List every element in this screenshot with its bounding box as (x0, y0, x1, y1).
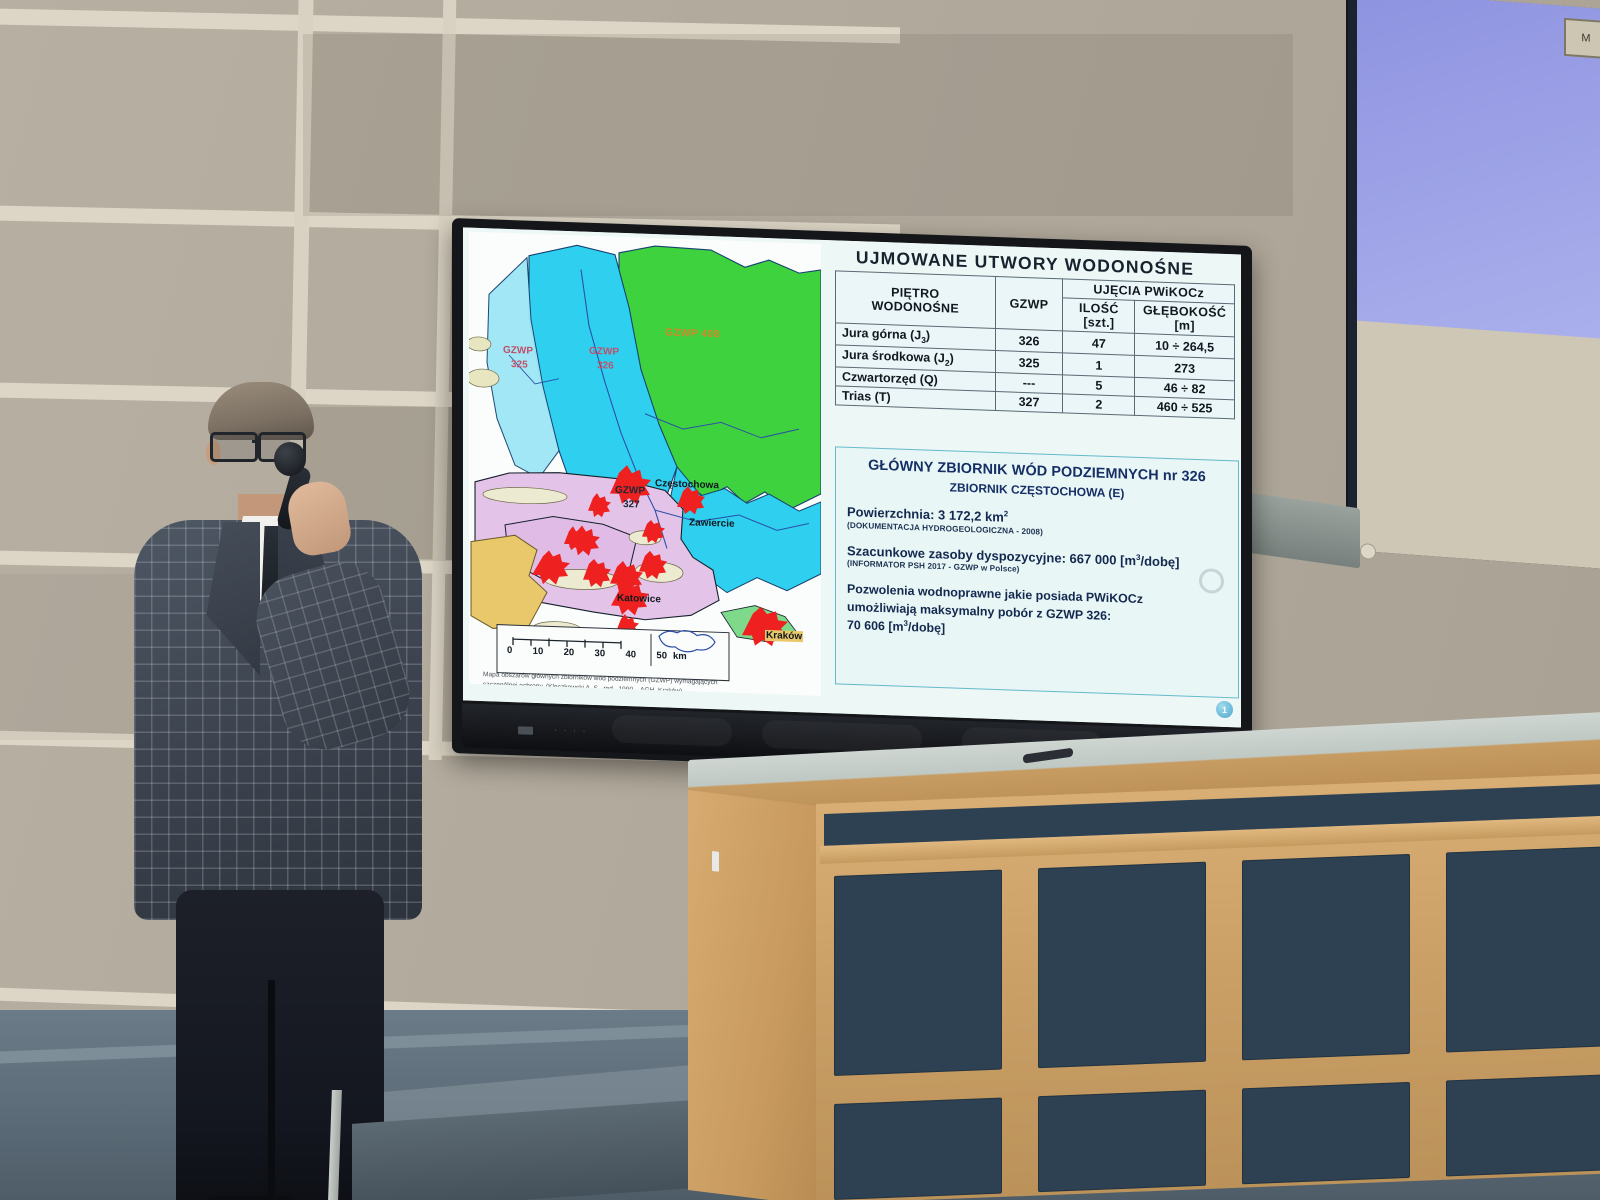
stage-tail: ) (950, 351, 954, 365)
map-label-gzwp-327: GZWP (615, 485, 645, 497)
slide-number-badge[interactable]: 1 (1216, 701, 1233, 719)
map-label-gzwp-325-number: 325 (511, 359, 528, 371)
ring-cursor[interactable] (1199, 568, 1224, 594)
cell-ilosc: 5 (1063, 375, 1135, 397)
glasses-left-lens (210, 432, 258, 462)
desk-panel (1446, 1074, 1600, 1176)
scale-tick: 10 (533, 646, 544, 657)
header-glebokosc: GŁĘBOKOŚĆ [m] (1135, 300, 1235, 336)
desk-panel (1242, 1082, 1410, 1184)
area-superscript: 2 (1004, 510, 1008, 519)
cell-ilosc: 2 (1063, 394, 1135, 416)
desk-panel (834, 870, 1002, 1076)
cell-glebokosc: 460 ÷ 525 (1135, 396, 1235, 418)
keys-on-desk[interactable] (1023, 748, 1073, 764)
cell-gzwp: 325 (995, 350, 1063, 374)
stage-tail: ) (926, 329, 930, 343)
map-label-gzwp-327-number: 327 (623, 499, 640, 511)
resources-tail: /dobę] (1140, 553, 1179, 569)
hydrogeology-map: GZWP 408 GZWP 325 GZWP 326 GZWP 327 Częs… (469, 232, 821, 696)
scale-tick: 40 (625, 649, 636, 660)
screen-pull-knob[interactable] (1360, 543, 1376, 560)
map-city-czestochowa: Częstochowa (655, 478, 719, 491)
map-city-zawiercie: Zawiercie (689, 517, 735, 530)
scale-tick: 0 (507, 645, 512, 656)
roll-down-projection-screen: M (1348, 0, 1600, 569)
desk-panel (1446, 846, 1600, 1052)
map-label-gzwp-408: GZWP 408 (665, 326, 720, 340)
map-label-gzwp-326: GZWP (589, 346, 619, 358)
usb-port[interactable] (518, 726, 533, 735)
cell-ilosc: 47 (1063, 331, 1135, 356)
control-indicators[interactable]: · · · · (554, 725, 588, 736)
permits-tail: /dobę] (908, 620, 945, 635)
header-gzwp: GZWP (995, 276, 1063, 330)
header-pietro-wodonosne: PIĘTRO WODONOŚNE (836, 271, 996, 329)
header-ilosc: ILOŚĆ [szt.] (1063, 298, 1135, 334)
projection-corner-tag: M (1564, 18, 1600, 59)
stage-text: Jura środkowa (J (842, 348, 945, 366)
desk-side-panel (688, 790, 828, 1200)
desk-panel-row-upper (834, 846, 1600, 1076)
trouser-seam (268, 980, 275, 1200)
cell-gzwp: 326 (995, 328, 1063, 352)
map-city-krakow: Kraków (765, 630, 803, 642)
lectern-desk (688, 760, 1600, 1200)
presenter (118, 370, 438, 1200)
scale-tick: 50 (656, 650, 667, 661)
map-scale-unit: km (673, 651, 687, 662)
cell-ilosc: 1 (1063, 353, 1135, 378)
scale-tick: 30 (595, 648, 606, 659)
desk-panel (1038, 862, 1206, 1068)
chin-contour (612, 715, 732, 747)
desk-panel (1038, 1090, 1206, 1192)
cell-gzwp: 327 (995, 391, 1063, 412)
reservoir-info-box: GŁÓWNY ZBIORNIK WÓD PODZIEMNYCH nr 326 Z… (835, 446, 1239, 698)
desk-panel (1242, 854, 1410, 1060)
map-graphic (469, 232, 821, 696)
stage-text: Trias (T) (842, 389, 891, 405)
interactive-flat-panel[interactable]: UJMOWANE UTWORY WODONOŚNE (452, 218, 1252, 781)
desk-latch[interactable] (712, 851, 719, 872)
microphone-icon (274, 442, 306, 476)
wall-panel (303, 34, 1293, 216)
map-label-gzwp-326-number: 326 (597, 360, 614, 372)
map-label-gzwp-325: GZWP (503, 345, 533, 357)
header-ilosc-line2: [szt.] (1066, 314, 1131, 330)
info-permits-block: Pozwolenia wodnoprawne jakie posiada PWi… (847, 581, 1227, 648)
scale-tick: 20 (564, 647, 575, 658)
presentation-slide: UJMOWANE UTWORY WODONOŚNE (463, 227, 1241, 727)
cell-gzwp: --- (995, 372, 1063, 393)
stage-text: Jura górna (J (842, 326, 921, 343)
map-city-katowice: Katowice (617, 593, 661, 606)
presenter-shoe (204, 1196, 300, 1200)
presentation-room-photo: M UJMOWANE UTWORY WODONOŚNE (0, 0, 1600, 1200)
stage-text: Czwartorzęd (Q) (842, 370, 938, 387)
desk-panel (834, 1098, 1002, 1200)
aquifer-table: PIĘTRO WODONOŚNE GZWP UJĘCIA PWiKOCz ILO… (835, 270, 1235, 419)
display-screen[interactable]: UJMOWANE UTWORY WODONOŚNE (463, 227, 1241, 727)
permits-value: 70 606 [m (847, 618, 903, 634)
